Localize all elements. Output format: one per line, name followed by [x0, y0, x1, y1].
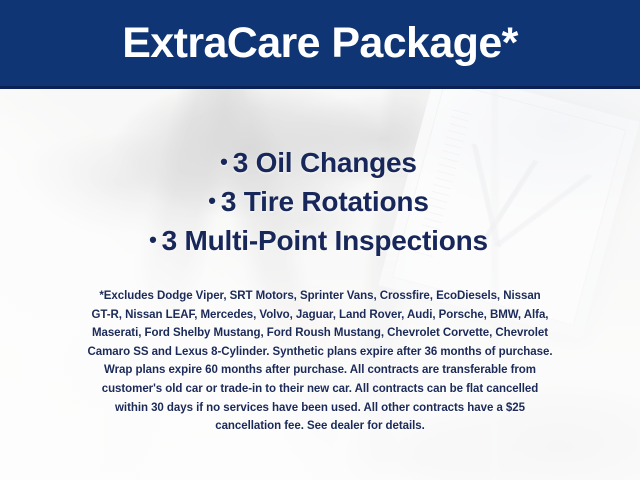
bullet-dot-icon: •: [220, 149, 228, 174]
disclaimer-line: Maserati, Ford Shelby Mustang, Ford Rous…: [22, 324, 618, 343]
offer-bullet-list: •3 Oil Changes •3 Tire Rotations •3 Mult…: [0, 143, 640, 260]
offer-bullet-label: 3 Tire Rotations: [221, 186, 429, 217]
disclaimer-line: GT-R, Nissan LEAF, Mercedes, Volvo, Jagu…: [22, 306, 618, 325]
disclaimer-text: *Excludes Dodge Viper, SRT Motors, Sprin…: [22, 287, 618, 436]
offer-bullet-item: •3 Tire Rotations: [0, 182, 640, 221]
offer-bullet-label: 3 Multi-Point Inspections: [162, 225, 488, 256]
extracare-package-ad: ExtraCare Package* •3 Oil Changes •3 Tir…: [0, 0, 640, 480]
disclaimer-line: Wrap plans expire 60 months after purcha…: [22, 361, 618, 380]
offer-bullet-label: 3 Oil Changes: [233, 147, 417, 178]
offer-bullet-item: •3 Multi-Point Inspections: [0, 221, 640, 260]
disclaimer-line: customer's old car or trade-in to their …: [22, 380, 618, 399]
disclaimer-line: within 30 days if no services have been …: [22, 399, 618, 418]
bullet-dot-icon: •: [208, 188, 216, 213]
bullet-dot-icon: •: [149, 227, 157, 252]
page-title: ExtraCare Package*: [0, 17, 640, 69]
disclaimer-line: *Excludes Dodge Viper, SRT Motors, Sprin…: [22, 287, 618, 306]
offer-bullet-item: •3 Oil Changes: [0, 143, 640, 182]
disclaimer-line: Camaro SS and Lexus 8-Cylinder. Syntheti…: [22, 343, 618, 362]
header-banner: ExtraCare Package*: [0, 0, 640, 89]
disclaimer-line: cancellation fee. See dealer for details…: [22, 417, 618, 436]
